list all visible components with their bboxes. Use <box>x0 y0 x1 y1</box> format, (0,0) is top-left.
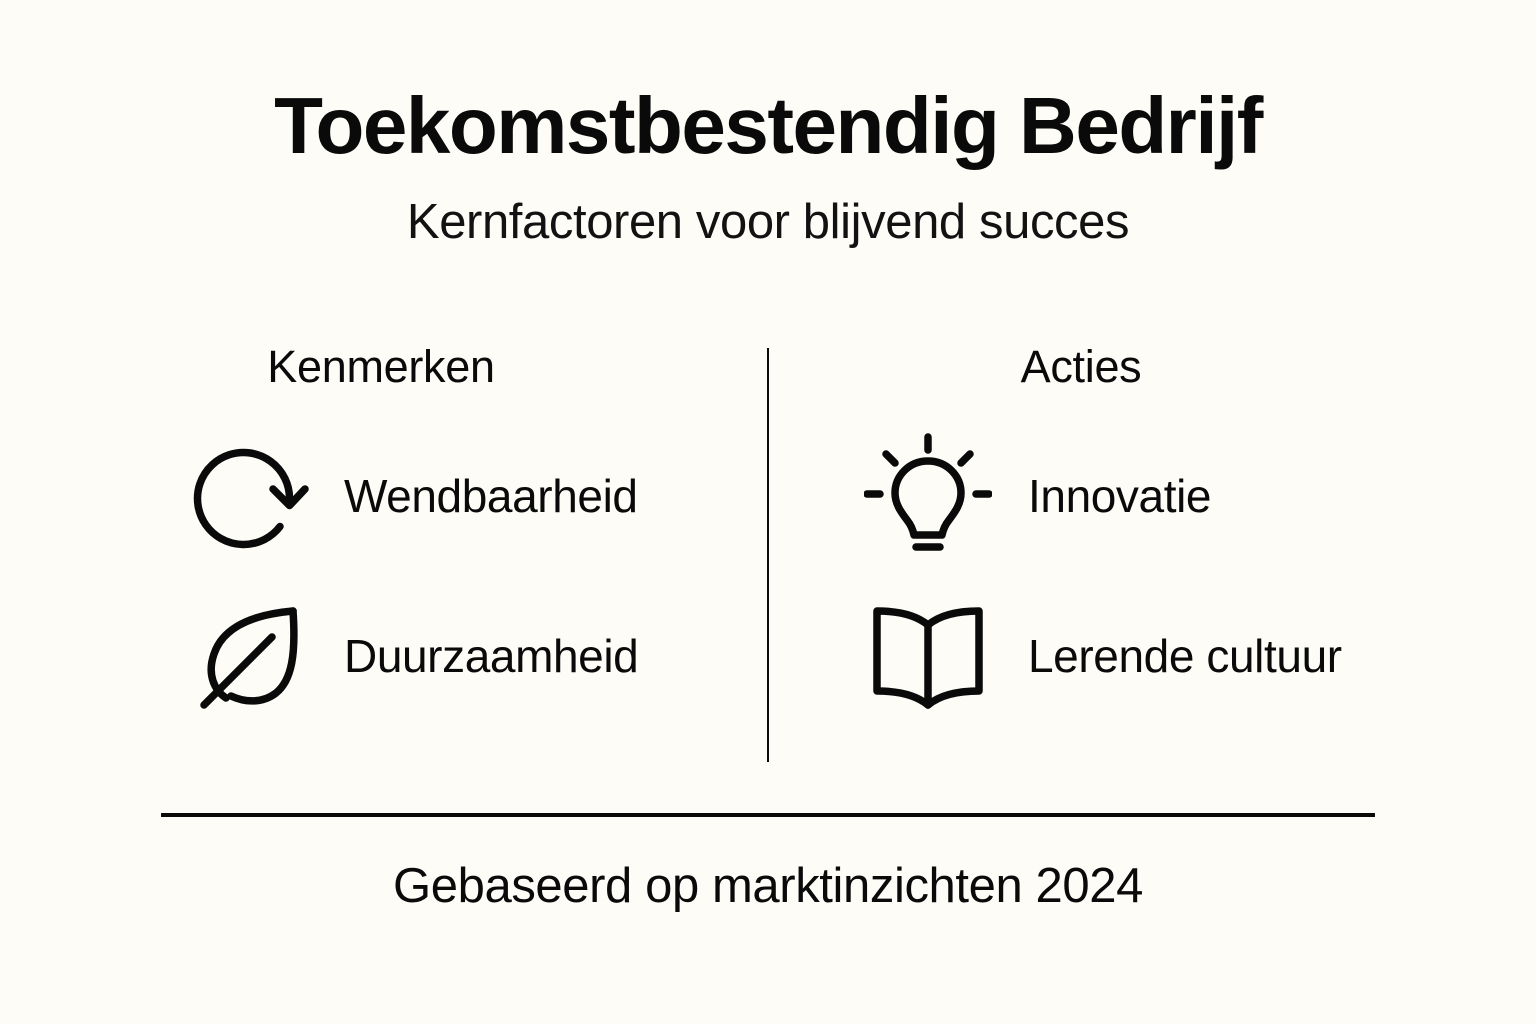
column-acties: Acties Innovatie <box>776 344 1496 389</box>
page-title: Toekomstbestendig Bedrijf <box>0 86 1536 166</box>
open-book-icon <box>862 590 994 722</box>
column-rows-acties: Innovatie Lerende cultuur <box>776 416 1536 736</box>
header-block: Toekomstbestendig Bedrijf Kernfactoren v… <box>0 86 1536 247</box>
list-item-label: Innovatie <box>994 473 1211 519</box>
lightbulb-icon <box>862 430 994 562</box>
footer-divider <box>161 813 1375 817</box>
footer-note: Gebaseerd op marktinzichten 2024 <box>0 862 1536 911</box>
column-header-kenmerken: Kenmerken <box>40 344 760 389</box>
column-kenmerken: Kenmerken Wendbaarheid <box>40 344 760 389</box>
list-item-label: Lerende cultuur <box>994 633 1342 679</box>
list-item: Lerende cultuur <box>862 576 1536 736</box>
list-item-label: Duurzaamheid <box>318 633 638 679</box>
columns-section: Kenmerken Wendbaarheid <box>0 344 1536 764</box>
refresh-cycle-icon <box>186 430 318 562</box>
list-item: Innovatie <box>862 416 1536 576</box>
list-item-label: Wendbaarheid <box>318 473 638 519</box>
leaf-icon <box>186 590 318 722</box>
column-header-acties: Acties <box>776 344 1496 389</box>
infographic-canvas: Toekomstbestendig Bedrijf Kernfactoren v… <box>0 0 1536 1024</box>
page-subtitle: Kernfactoren voor blijvend succes <box>0 166 1536 247</box>
